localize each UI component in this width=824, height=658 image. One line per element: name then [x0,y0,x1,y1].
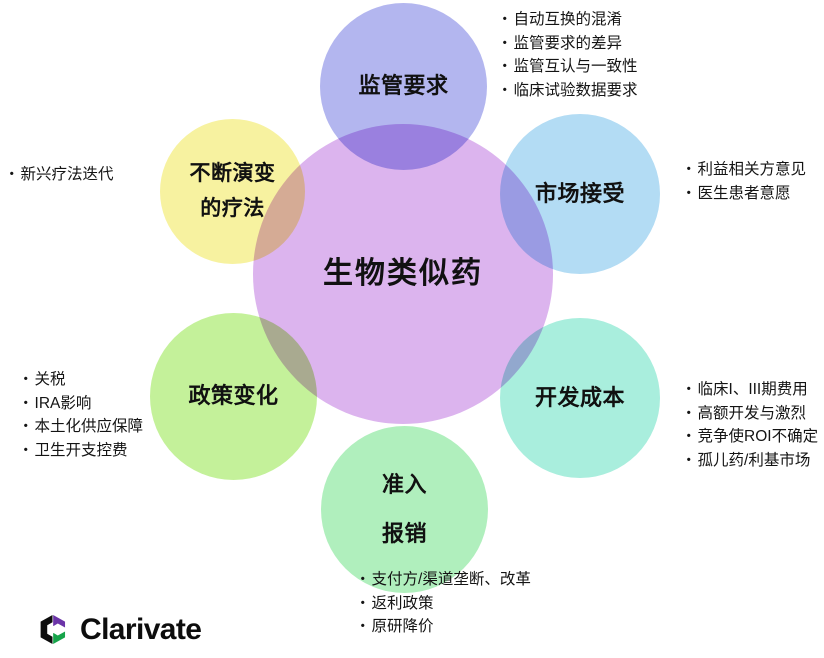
note-item: 新兴疗法迭代 [4,163,114,187]
note-item: 自动互换的混淆 [497,8,638,32]
note-item: 关税 [18,368,143,392]
note-item: 孤儿药/利基市场 [681,449,818,473]
satellite-circle-cost-label: 开发成本 [535,381,625,415]
note-item: 原研降价 [355,615,531,639]
note-list-therapy: 新兴疗法迭代 [4,163,114,187]
clarivate-logo: Clarivate [36,613,201,646]
note-item: 竞争使ROI不确定 [681,425,818,449]
note-item: 监管要求的差异 [497,32,638,56]
note-item: 监管互认与一致性 [497,55,638,79]
satellite-circle-market: 市场接受 [500,114,660,274]
note-item: 本土化供应保障 [18,415,143,439]
center-circle-label: 生物类似药 [323,251,483,298]
note-item: 利益相关方意见 [681,158,806,182]
note-item: 卫生开支控费 [18,439,143,463]
satellite-circle-therapy: 不断演变 的疗法 [160,119,305,264]
satellite-circle-therapy-label-line1: 不断演变 [190,158,276,191]
note-item: 返利政策 [355,592,531,616]
satellite-circle-access-label-line2: 报销 [382,517,427,551]
clarivate-logo-mark-icon [36,613,69,646]
diagram-canvas: 生物类似药 不断演变 的疗法 监管要求 市场接受 开发成本 准入 报销 政策变化… [0,0,824,658]
note-list-market: 利益相关方意见 医生患者意愿 [681,158,806,205]
note-list-policy: 关税 IRA影响 本土化供应保障 卫生开支控费 [18,368,143,462]
note-item: 医生患者意愿 [681,182,806,206]
satellite-circle-cost: 开发成本 [500,318,660,478]
satellite-circle-regulatory-label: 监管要求 [358,69,448,103]
satellite-circle-policy: 政策变化 [150,313,317,480]
note-list-regulatory: 自动互换的混淆 监管要求的差异 监管互认与一致性 临床试验数据要求 [497,8,638,102]
note-item: 支付方/渠道垄断、改革 [355,568,531,592]
satellite-circle-market-label: 市场接受 [535,177,625,211]
note-list-access: 支付方/渠道垄断、改革 返利政策 原研降价 [355,568,531,639]
note-item: 临床I、III期费用 [681,378,818,402]
clarivate-logo-wordmark: Clarivate [80,615,201,645]
note-item: IRA影响 [18,392,143,416]
satellite-circle-regulatory: 监管要求 [320,3,487,170]
note-item: 临床试验数据要求 [497,79,638,103]
note-list-cost: 临床I、III期费用 高额开发与激烈 竞争使ROI不确定 孤儿药/利基市场 [681,378,818,472]
satellite-circle-therapy-label-line2: 的疗法 [200,193,265,226]
note-item: 高额开发与激烈 [681,402,818,426]
satellite-circle-access-label-line1: 准入 [382,468,427,502]
satellite-circle-policy-label: 政策变化 [188,379,278,413]
venn-circle-cluster: 生物类似药 不断演变 的疗法 监管要求 市场接受 开发成本 准入 报销 政策变化 [0,0,824,658]
